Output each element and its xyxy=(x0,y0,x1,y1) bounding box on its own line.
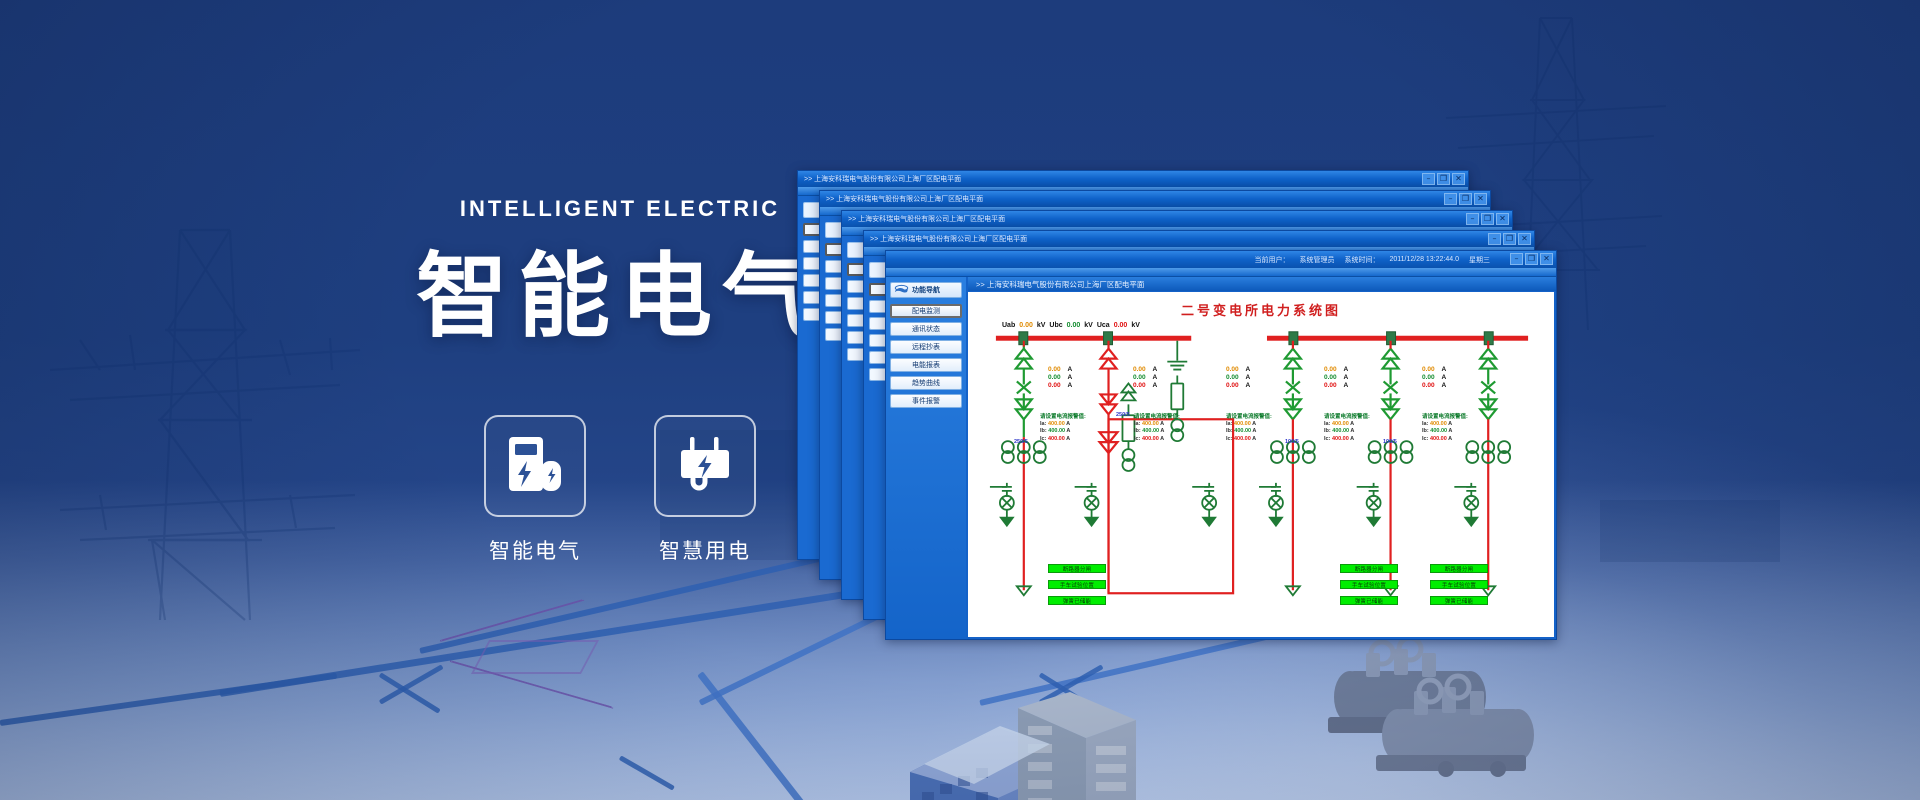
current-ib-value: 0.00 xyxy=(1422,374,1435,382)
current-ia-value: 0.00 xyxy=(1324,366,1337,374)
setting-unit: A xyxy=(1066,436,1070,442)
setting-ib-value: 400.00 xyxy=(1142,428,1159,434)
feature-label: 智慧用电 xyxy=(659,535,751,565)
sidebar-item-remote-meter-reading[interactable]: 远程抄表 xyxy=(890,340,962,354)
status-badge-truck-test-position[interactable]: 手车试验位置 xyxy=(1048,580,1106,589)
minimize-icon[interactable]: – xyxy=(1466,213,1479,225)
window-title-text: >> 上海安科瑞电气股份有限公司上海厂区配电平面 xyxy=(870,234,1027,244)
setting-ia-label: Ia: xyxy=(1134,421,1140,427)
current-unit: A xyxy=(1067,366,1072,374)
active-window[interactable]: 当前用户： 系统管理员 系统时间： 2011/12/28 13:22:44.0 … xyxy=(885,250,1557,640)
setting-unit: A xyxy=(1350,421,1354,427)
setting-unit: A xyxy=(1066,421,1070,427)
sidebar-item-label: 趋势曲线 xyxy=(912,378,940,388)
setting-ic-value: 400.00 xyxy=(1234,436,1251,442)
setting-header: 请设置电流报警值: xyxy=(1422,414,1468,421)
window-subtitle-text: >> 上海安科瑞电气股份有限公司上海厂区配电平面 xyxy=(976,279,1144,290)
setting-header: 请设置电流报警值: xyxy=(1040,414,1086,421)
feature-icon-box xyxy=(654,415,756,517)
maximize-icon[interactable]: ❐ xyxy=(1503,233,1516,245)
minimize-icon[interactable]: – xyxy=(1510,253,1523,265)
single-line-diagram-canvas[interactable]: 二号变电所电力系统图 Uab 0.00 kV Ubc 0.00 kV Uca 0… xyxy=(968,292,1554,637)
setting-ia-value: 400.00 xyxy=(1142,421,1159,427)
feeder-2-alarm-settings: 请设置电流报警值: Ia: 400.00 A Ib: 400.00 A Ic: … xyxy=(1134,414,1180,443)
status-badge-breaker-open[interactable]: 断路器分闸 xyxy=(1048,564,1106,573)
setting-ia-label: Ia: xyxy=(1422,421,1428,427)
setting-ia-label: Ia: xyxy=(1040,421,1046,427)
maximize-icon[interactable]: ❐ xyxy=(1437,173,1450,185)
feeder-5-current-readout: 0.00 A 0.00 A 0.00 A xyxy=(1422,366,1446,390)
window-title-bar[interactable]: >> 上海安科瑞电气股份有限公司上海厂区配电平面 – ❐ ✕ xyxy=(864,231,1534,247)
sidebar-item-trend-curve[interactable]: 趋势曲线 xyxy=(890,376,962,390)
setting-ib-label: Ib: xyxy=(1134,428,1141,434)
sidebar-item-event-alarm[interactable]: 事件报警 xyxy=(890,394,962,408)
setting-ib-value: 400.00 xyxy=(1234,428,1251,434)
feeder-4-symbols xyxy=(1383,349,1399,420)
feeder-3-symbols xyxy=(1285,349,1301,420)
current-unit: A xyxy=(1441,382,1446,390)
feature-intelligent-electric[interactable]: 智能电气 xyxy=(484,415,586,565)
setting-ic-value: 400.00 xyxy=(1048,436,1065,442)
setting-ic-label: Ic: xyxy=(1040,436,1046,442)
feature-smart-power[interactable]: 智慧用电 xyxy=(654,415,756,565)
setting-ia-value: 400.00 xyxy=(1234,421,1251,427)
setting-unit: A xyxy=(1448,436,1452,442)
feeder-4-current-readout: 0.00 A 0.00 A 0.00 A xyxy=(1324,366,1348,390)
current-user-label: 当前用户： xyxy=(1254,255,1289,265)
feeder-4-ct-ratio: 100/5 xyxy=(1383,439,1397,445)
feeder-3-current-readout: 0.00 A 0.00 A 0.00 A xyxy=(1226,366,1250,390)
setting-unit: A xyxy=(1066,428,1070,434)
feeder-1-ct-ratio: 250/5 xyxy=(1014,439,1028,445)
feeder-1-alarm-settings: 请设置电流报警值: Ia: 400.00 A Ib: 400.00 A Ic: … xyxy=(1040,414,1086,443)
setting-ia-label: Ia: xyxy=(1324,421,1330,427)
sidebar-item-label: 事件报警 xyxy=(912,396,940,406)
close-icon[interactable]: ✕ xyxy=(1496,213,1509,225)
current-unit: A xyxy=(1343,366,1348,374)
current-ib-value: 0.00 xyxy=(1048,374,1061,382)
maximize-icon[interactable]: ❐ xyxy=(1525,253,1538,265)
current-ia-value: 0.00 xyxy=(1133,366,1146,374)
setting-ic-label: Ic: xyxy=(1422,436,1428,442)
current-unit: A xyxy=(1441,374,1446,382)
setting-unit: A xyxy=(1252,428,1256,434)
minimize-icon[interactable]: – xyxy=(1422,173,1435,185)
setting-ic-value: 400.00 xyxy=(1332,436,1349,442)
setting-ia-value: 400.00 xyxy=(1430,421,1447,427)
setting-unit: A xyxy=(1160,421,1164,427)
function-nav-panel: 功能导航 配电监测 通讯状态 远程抄表 电能报表 趋势曲线 事件报警 xyxy=(886,277,966,639)
current-ib-value: 0.00 xyxy=(1324,374,1337,382)
setting-ib-label: Ib: xyxy=(1324,428,1331,434)
setting-ib-label: Ib: xyxy=(1040,428,1047,434)
window-title-bar[interactable]: >> 上海安科瑞电气股份有限公司上海厂区配电平面 – ❐ ✕ xyxy=(842,211,1512,227)
setting-ia-value: 400.00 xyxy=(1048,421,1065,427)
current-ic-value: 0.00 xyxy=(1422,382,1435,390)
setting-ic-value: 400.00 xyxy=(1142,436,1159,442)
window-title-text: >> 上海安科瑞电气股份有限公司上海厂区配电平面 xyxy=(826,194,983,204)
setting-unit: A xyxy=(1160,436,1164,442)
window-controls[interactable]: – ❐ ✕ xyxy=(1488,233,1531,245)
current-ib-value: 0.00 xyxy=(1133,374,1146,382)
setting-ic-label: Ic: xyxy=(1324,436,1330,442)
current-unit: A xyxy=(1245,366,1250,374)
status-badge-spring-charged[interactable]: 弹簧已储能 xyxy=(1430,596,1488,605)
status-badge-truck-test-position[interactable]: 手车试验位置 xyxy=(1430,580,1488,589)
maximize-icon[interactable]: ❐ xyxy=(1459,193,1472,205)
window-subtitle-bar: >> 上海安科瑞电气股份有限公司上海厂区配电平面 xyxy=(968,277,1556,291)
current-ia-value: 0.00 xyxy=(1048,366,1061,374)
status-badge-spring-charged[interactable]: 弹簧已储能 xyxy=(1340,596,1398,605)
sidebar-item-power-monitoring[interactable]: 配电监测 xyxy=(890,304,962,318)
status-badge-breaker-open[interactable]: 断路器分闸 xyxy=(1340,564,1398,573)
window-title-bar[interactable]: >> 上海安科瑞电气股份有限公司上海厂区配电平面 – ❐ ✕ xyxy=(820,191,1490,207)
close-icon[interactable]: ✕ xyxy=(1474,193,1487,205)
setting-ib-value: 400.00 xyxy=(1048,428,1065,434)
setting-unit: A xyxy=(1448,421,1452,427)
current-unit: A xyxy=(1441,366,1446,374)
current-ic-value: 0.00 xyxy=(1324,382,1337,390)
system-time-value: 2011/12/28 13:22:44.0 xyxy=(1389,256,1459,263)
current-unit: A xyxy=(1067,374,1072,382)
setting-unit: A xyxy=(1252,421,1256,427)
window-controls[interactable]: – ❐ ✕ xyxy=(1444,193,1487,205)
feeder-1-symbols xyxy=(1016,341,1032,437)
setting-header: 请设置电流报警值: xyxy=(1134,414,1180,421)
window-controls[interactable]: – ❐ ✕ xyxy=(1422,173,1465,185)
minimize-icon[interactable]: – xyxy=(1488,233,1501,245)
feature-icon-box xyxy=(484,415,586,517)
minimize-icon[interactable]: – xyxy=(1444,193,1457,205)
feeder-2-current-readout: 0.00 A 0.00 A 0.00 A xyxy=(1133,366,1157,390)
window-title-text: >> 上海安科瑞电气股份有限公司上海厂区配电平面 xyxy=(804,174,961,184)
setting-ib-value: 400.00 xyxy=(1332,428,1349,434)
current-ia-value: 0.00 xyxy=(1422,366,1435,374)
setting-ib-label: Ib: xyxy=(1226,428,1233,434)
setting-ia-label: Ia: xyxy=(1226,421,1232,427)
close-icon[interactable]: ✕ xyxy=(1518,233,1531,245)
sidebar-item-comm-status[interactable]: 通讯状态 xyxy=(890,322,962,336)
feeder-1-current-readout: 0.00 A 0.00 A 0.00 A xyxy=(1048,366,1072,390)
status-badge-breaker-open[interactable]: 断路器分闸 xyxy=(1430,564,1488,573)
setting-ia-value: 400.00 xyxy=(1332,421,1349,427)
status-badge-spring-charged[interactable]: 弹簧已储能 xyxy=(1048,596,1106,605)
current-ic-value: 0.00 xyxy=(1226,382,1239,390)
setting-unit: A xyxy=(1252,436,1256,442)
current-unit: A xyxy=(1152,382,1157,390)
current-unit: A xyxy=(1067,382,1072,390)
window-status-info: 当前用户： 系统管理员 系统时间： 2011/12/28 13:22:44.0 … xyxy=(1254,251,1548,268)
window-controls[interactable]: – ❐ ✕ xyxy=(1510,253,1553,265)
setting-unit: A xyxy=(1350,428,1354,434)
feeder-4-alarm-settings: 请设置电流报警值: Ia: 400.00 A Ib: 400.00 A Ic: … xyxy=(1324,414,1370,443)
charging-post-icon xyxy=(507,435,563,498)
current-unit: A xyxy=(1343,382,1348,390)
close-icon[interactable]: ✕ xyxy=(1452,173,1465,185)
sidebar-item-label: 通讯状态 xyxy=(912,324,940,334)
window-title-bar[interactable]: >> 上海安科瑞电气股份有限公司上海厂区配电平面 – ❐ ✕ xyxy=(798,171,1468,187)
current-unit: A xyxy=(1245,382,1250,390)
status-badge-truck-test-position[interactable]: 手车试验位置 xyxy=(1340,580,1398,589)
setting-ib-label: Ib: xyxy=(1422,428,1429,434)
window-title-text: >> 上海安科瑞电气股份有限公司上海厂区配电平面 xyxy=(848,214,1005,224)
sidebar-item-energy-report[interactable]: 电能报表 xyxy=(890,358,962,372)
system-time-label: 系统时间： xyxy=(1344,255,1379,265)
sidebar-item-label: 远程抄表 xyxy=(912,342,940,352)
close-icon[interactable]: ✕ xyxy=(1540,253,1553,265)
sidebar-item-label: 电能报表 xyxy=(912,360,940,370)
weekday-value: 星期三 xyxy=(1469,255,1490,265)
current-unit: A xyxy=(1152,366,1157,374)
current-unit: A xyxy=(1245,374,1250,382)
feeder-5-alarm-settings: 请设置电流报警值: Ia: 400.00 A Ib: 400.00 A Ic: … xyxy=(1422,414,1468,443)
feature-label: 智能电气 xyxy=(489,535,581,565)
sidebar-item-label: 配电监测 xyxy=(912,306,940,316)
maximize-icon[interactable]: ❐ xyxy=(1481,213,1494,225)
current-unit: A xyxy=(1152,374,1157,382)
setting-ib-value: 400.00 xyxy=(1430,428,1447,434)
setting-ic-label: Ic: xyxy=(1226,436,1232,442)
current-ic-value: 0.00 xyxy=(1048,382,1061,390)
feeder-2-ct-ratio: 250/5 xyxy=(1116,412,1130,418)
current-ic-value: 0.00 xyxy=(1133,382,1146,390)
power-plug-icon xyxy=(676,435,734,498)
function-nav-title: 功能导航 xyxy=(912,285,940,295)
setting-header: 请设置电流报警值: xyxy=(1226,414,1272,421)
navigation-book-icon xyxy=(894,281,909,299)
window-title-bar[interactable]: 当前用户： 系统管理员 系统时间： 2011/12/28 13:22:44.0 … xyxy=(886,251,1556,268)
setting-unit: A xyxy=(1448,428,1452,434)
feeder-5-symbols xyxy=(1480,349,1496,420)
window-controls[interactable]: – ❐ ✕ xyxy=(1466,213,1509,225)
feeder-3-alarm-settings: 请设置电流报警值: Ia: 400.00 A Ib: 400.00 A Ic: … xyxy=(1226,414,1272,443)
setting-unit: A xyxy=(1350,436,1354,442)
window-menubar[interactable] xyxy=(886,268,1556,277)
setting-ic-value: 400.00 xyxy=(1430,436,1447,442)
current-ib-value: 0.00 xyxy=(1226,374,1239,382)
setting-unit: A xyxy=(1160,428,1164,434)
current-user-value: 系统管理员 xyxy=(1299,255,1334,265)
current-ia-value: 0.00 xyxy=(1226,366,1239,374)
current-unit: A xyxy=(1343,374,1348,382)
setting-ic-label: Ic: xyxy=(1134,436,1140,442)
function-nav-header: 功能导航 xyxy=(890,282,962,298)
setting-header: 请设置电流报警值: xyxy=(1324,414,1370,421)
feeder-3-ct-ratio: 100/5 xyxy=(1285,439,1299,445)
